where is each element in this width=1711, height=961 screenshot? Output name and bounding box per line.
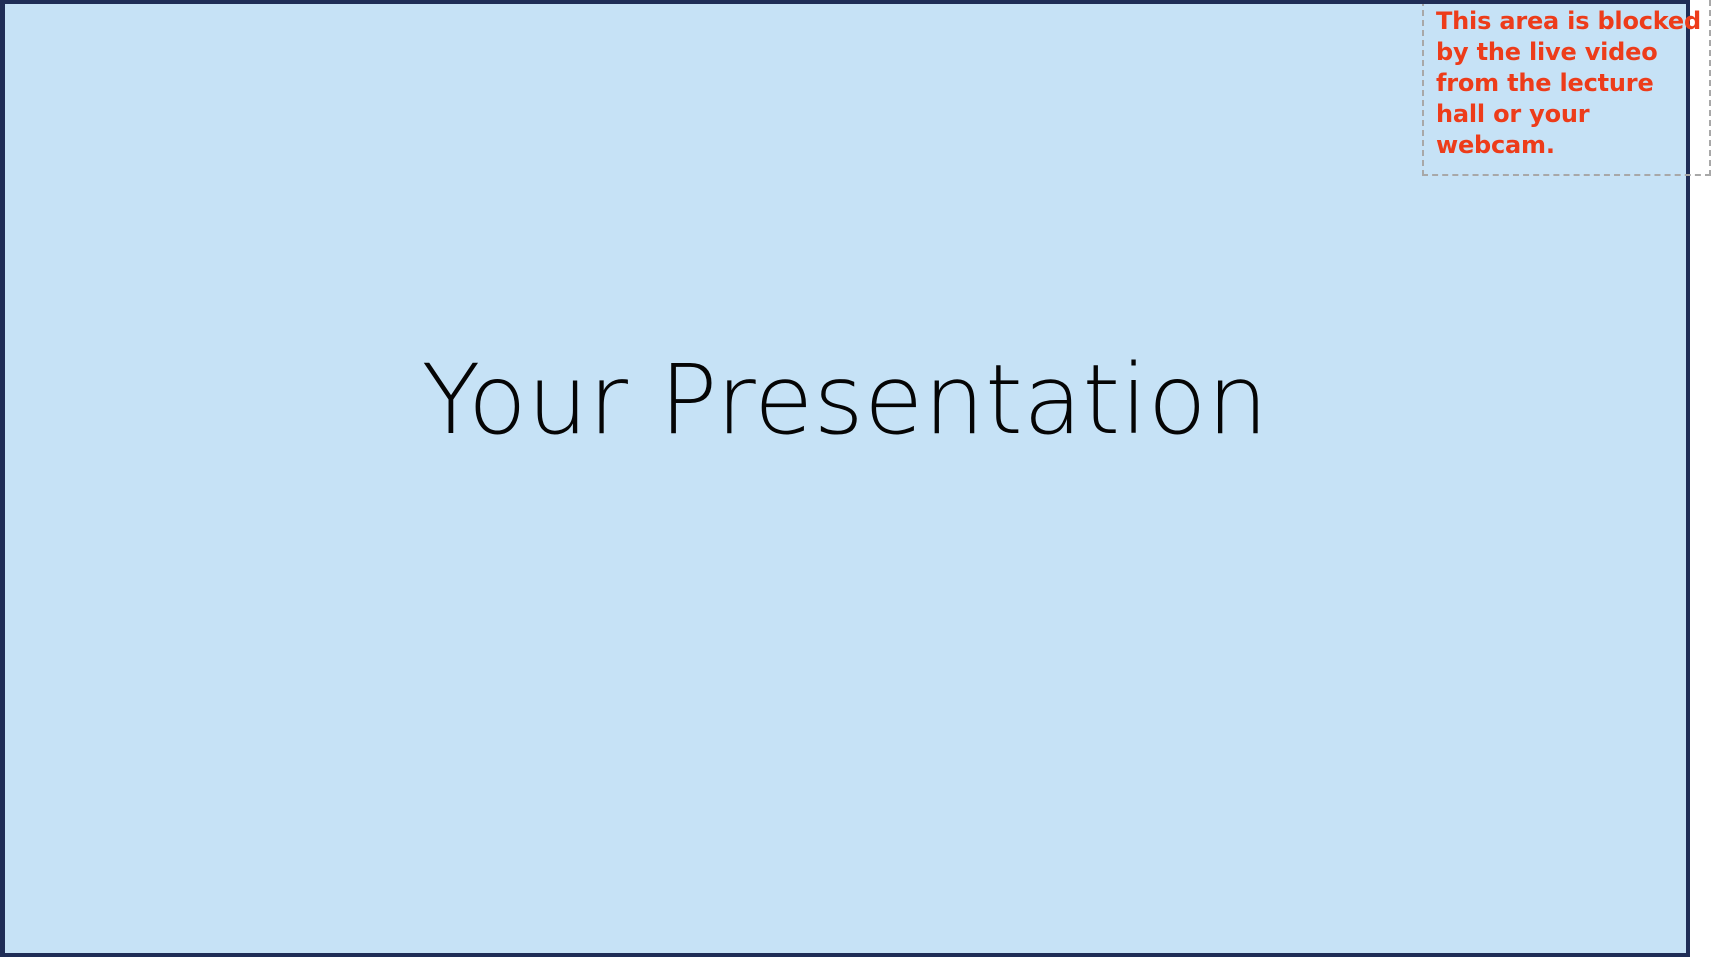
slide-canvas: Your Presentation This area is blocked b… [0, 0, 1711, 961]
video-blocked-area-box[interactable]: This area is blocked by the live video f… [1422, 0, 1711, 176]
video-blocked-area-label: This area is blocked by the live video f… [1436, 6, 1701, 161]
slide-top-border [0, 0, 1690, 4]
